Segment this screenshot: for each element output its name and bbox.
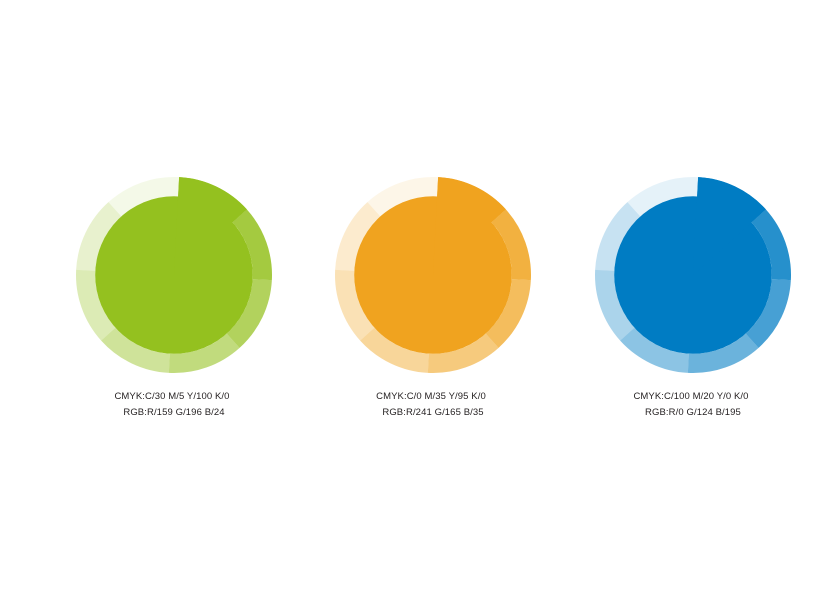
blue-swatch-wheel [595,177,789,371]
blue-swatch-caption: CMYK:C/100 M/20 Y/0 K/0RGB:R/0 G/124 B/1… [595,389,789,420]
green-swatch-wheel-canvas [76,177,272,373]
blue-swatch-rgb-label: RGB:R/0 G/124 B/195 [597,405,789,421]
orange-swatch-wheel [335,177,529,371]
green-swatch-caption: CMYK:C/30 M/5 Y/100 K/0RGB:R/159 G/196 B… [76,389,270,420]
orange-swatch: CMYK:C/0 M/35 Y/95 K/0RGB:R/241 G/165 B/… [335,177,529,437]
color-palette-board: CMYK:C/30 M/5 Y/100 K/0RGB:R/159 G/196 B… [0,0,838,597]
orange-swatch-wheel-canvas [335,177,531,373]
blue-swatch-cmyk-label: CMYK:C/100 M/20 Y/0 K/0 [593,389,789,405]
green-swatch-cmyk-label: CMYK:C/30 M/5 Y/100 K/0 [74,389,270,405]
orange-swatch-caption: CMYK:C/0 M/35 Y/95 K/0RGB:R/241 G/165 B/… [335,389,529,420]
green-swatch: CMYK:C/30 M/5 Y/100 K/0RGB:R/159 G/196 B… [76,177,270,437]
blue-swatch: CMYK:C/100 M/20 Y/0 K/0RGB:R/0 G/124 B/1… [595,177,789,437]
orange-swatch-cmyk-label: CMYK:C/0 M/35 Y/95 K/0 [333,389,529,405]
green-swatch-wheel [76,177,270,371]
orange-swatch-rgb-label: RGB:R/241 G/165 B/35 [337,405,529,421]
green-swatch-rgb-label: RGB:R/159 G/196 B/24 [78,405,270,421]
blue-swatch-wheel-canvas [595,177,791,373]
